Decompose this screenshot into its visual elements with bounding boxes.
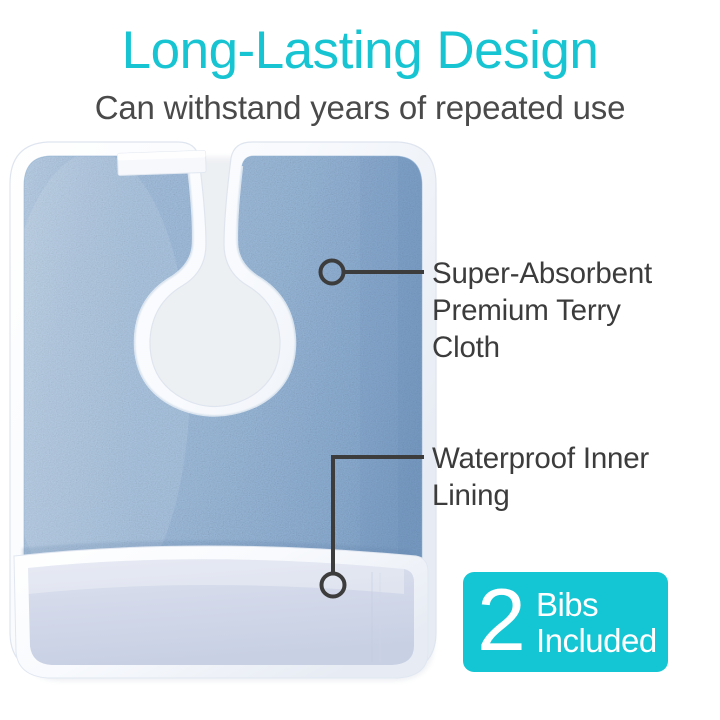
callout-line: Lining — [432, 477, 720, 514]
badge-label-group: Bibs Included — [536, 587, 657, 659]
page-subtitle: Can withstand years of repeated use — [0, 88, 720, 128]
callout-waterproof-lining: Waterproof Inner Lining — [432, 440, 720, 514]
infographic-canvas: Long-Lasting Design Can withstand years … — [0, 0, 720, 720]
callout-line: Waterproof Inner — [432, 440, 720, 477]
callout-line: Premium Terry — [432, 292, 720, 329]
product-image-bib — [0, 132, 452, 702]
bibs-included-badge: 2 Bibs Included — [463, 572, 668, 672]
callout-super-absorbent: Super-Absorbent Premium Terry Cloth — [432, 255, 720, 366]
callout-line: Cloth — [432, 329, 720, 366]
page-title: Long-Lasting Design — [0, 20, 720, 82]
badge-count: 2 — [477, 576, 524, 664]
waterproof-pocket-flap — [14, 540, 428, 678]
badge-label-line1: Bibs — [536, 587, 657, 623]
velcro-tab — [117, 150, 206, 175]
callout-line: Super-Absorbent — [432, 255, 720, 292]
badge-label-line2: Included — [536, 623, 657, 659]
